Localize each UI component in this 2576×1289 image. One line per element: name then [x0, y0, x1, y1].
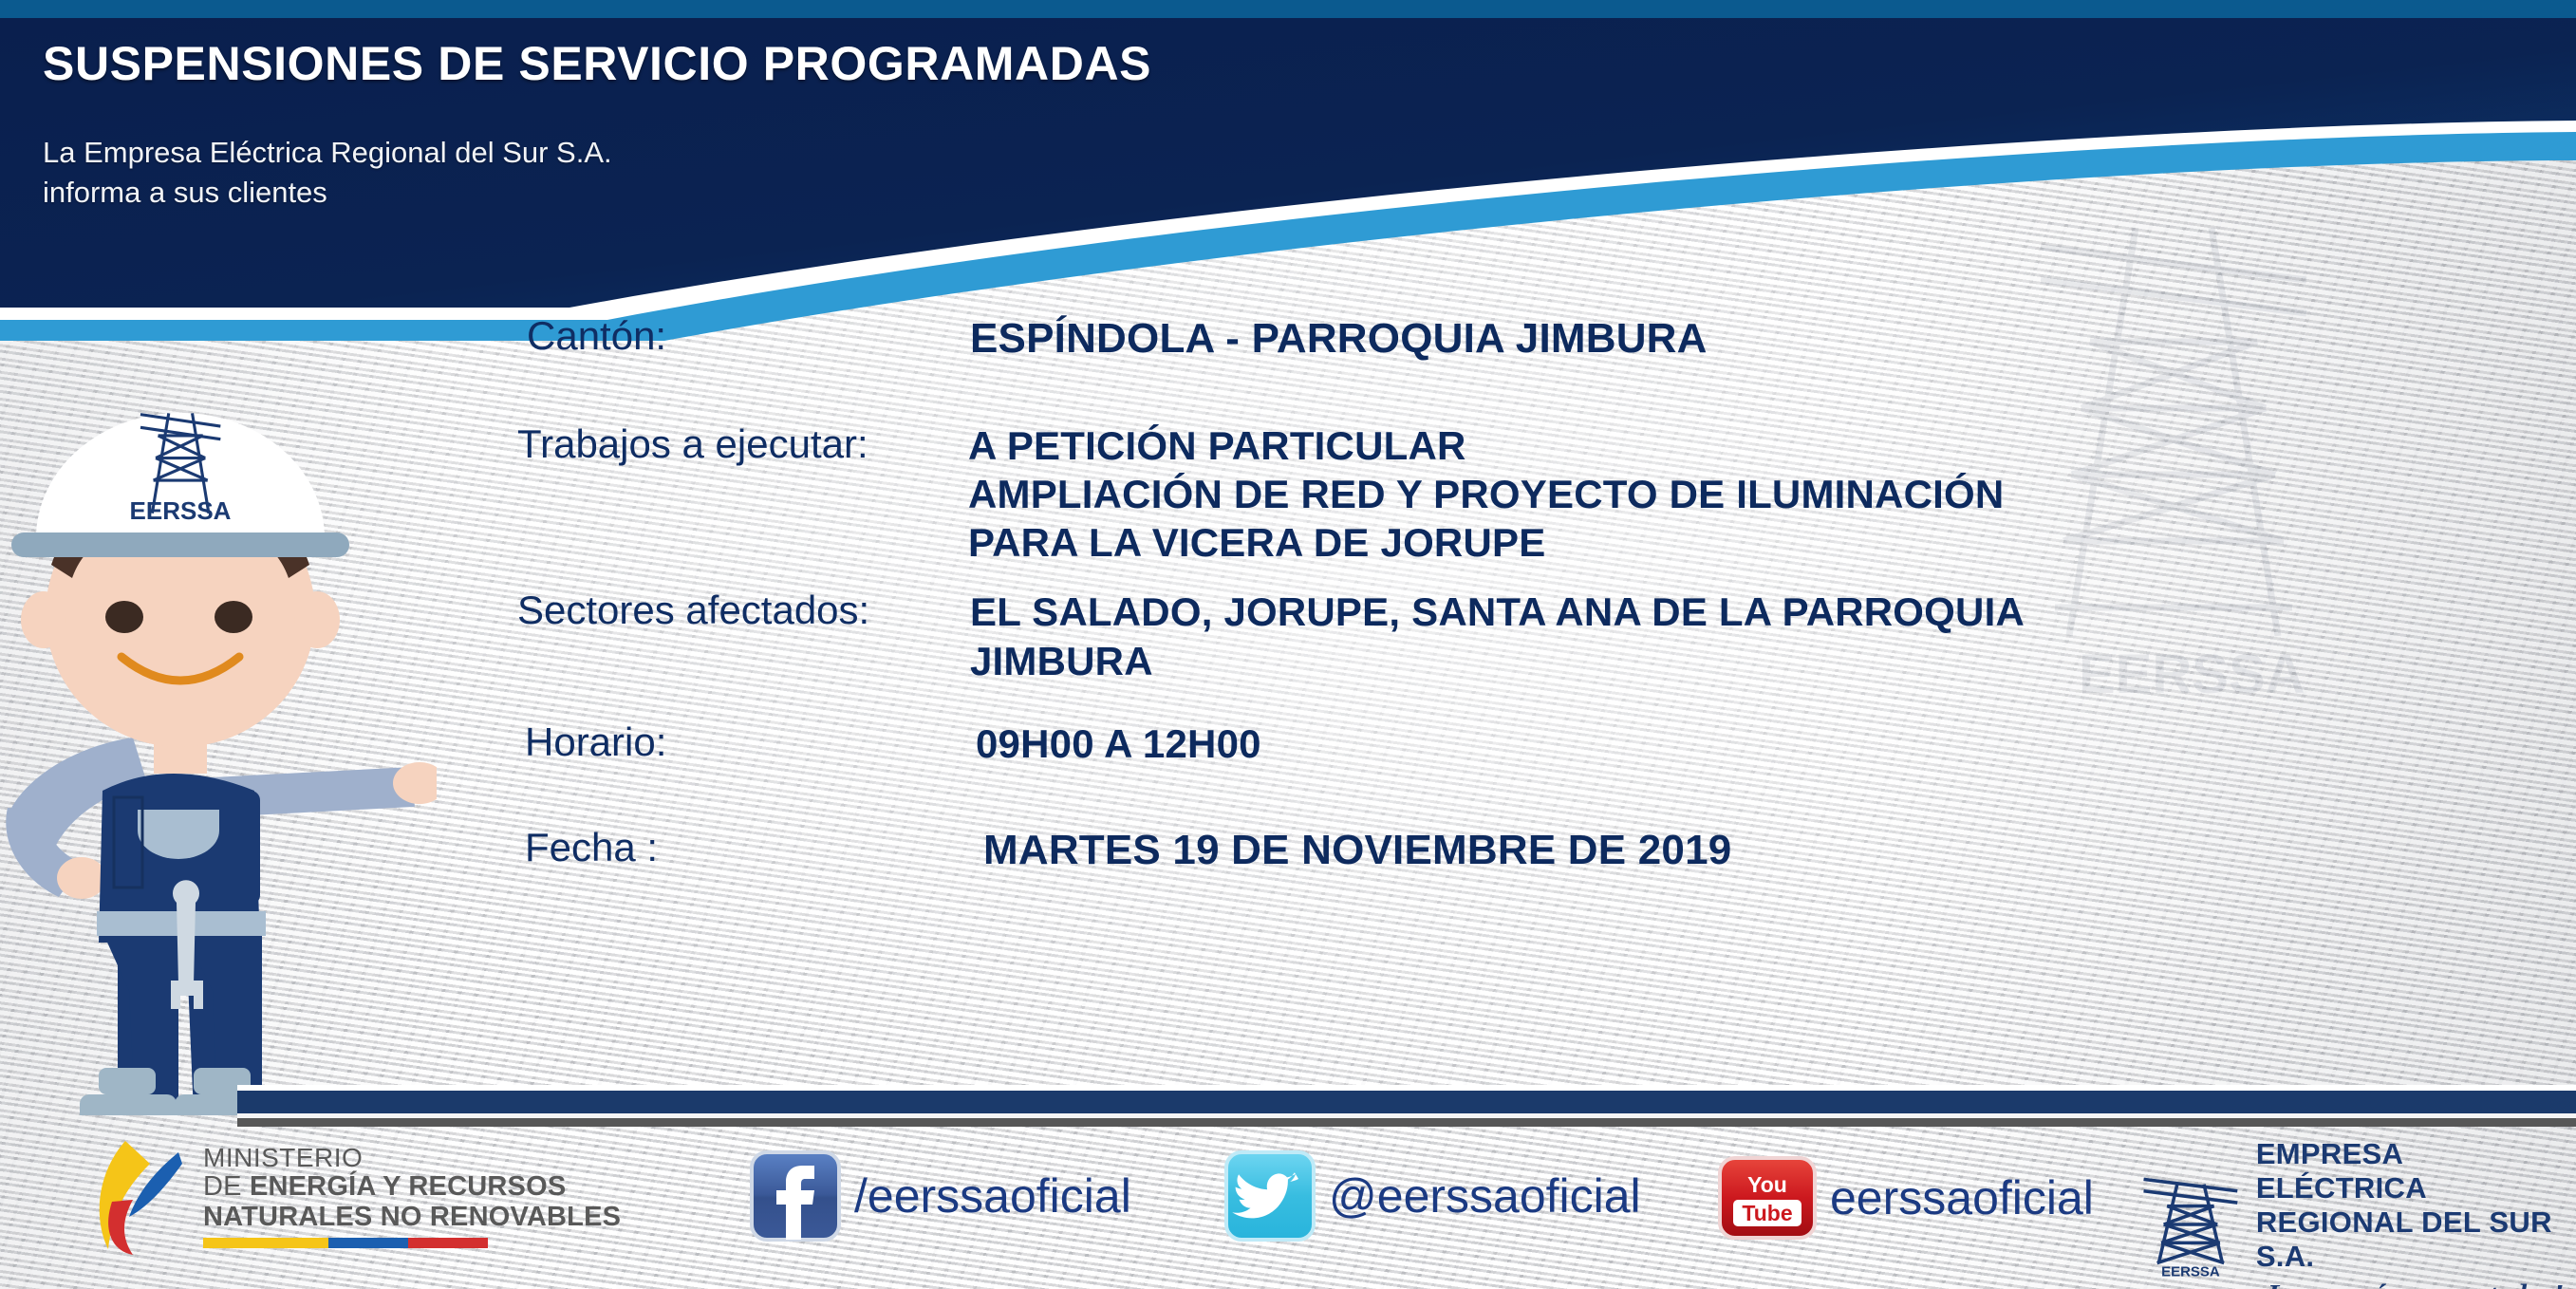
twitter-handle[interactable]: @eerssaoficial [1329, 1168, 1641, 1224]
worker-mascot-illustration: EERSSA [0, 365, 437, 1115]
social-twitter[interactable]: @eerssaoficial [1224, 1150, 1641, 1242]
canton-label: Cantón: [517, 313, 959, 358]
ministerio-line2: DE ENERGÍA Y RECURSOS [203, 1172, 621, 1202]
helmet-logo-text: EERSSA [130, 496, 232, 525]
canton-value: ESPÍNDOLA - PARROQUIA JIMBURA [970, 313, 1708, 364]
social-facebook[interactable]: /eerssaoficial [750, 1150, 1131, 1242]
field-row-sectores: Sectores afectados: EL SALADO, JORUPE, S… [517, 588, 2539, 684]
field-row-horario: Horario: 09H00 A 12H00 [517, 719, 2539, 768]
youtube-icon[interactable]: You Tube [1718, 1156, 1817, 1240]
transmission-tower-icon: EERSSA [2140, 1162, 2241, 1287]
ministerio-line3: NATURALES NO RENOVABLES [203, 1203, 621, 1232]
ecuador-swoosh-icon [84, 1135, 190, 1257]
trabajos-line-1: A PETICIÓN PARTICULAR [968, 421, 2004, 470]
trabajos-line-2: AMPLIACIÓN DE RED Y PROYECTO DE ILUMINAC… [968, 470, 2004, 518]
fecha-label: Fecha : [517, 825, 966, 869]
field-row-canton: Cantón: ESPÍNDOLA - PARROQUIA JIMBURA [517, 313, 2539, 364]
notice-details: Cantón: ESPÍNDOLA - PARROQUIA JIMBURA Tr… [517, 313, 2539, 876]
trabajos-line-3: PARA LA VICERA DE JORUPE [968, 518, 2004, 567]
youtube-handle[interactable]: eerssaoficial [1830, 1170, 2094, 1225]
horario-value: 09H00 A 12H00 [976, 719, 1261, 768]
ministerio-line2-bold: ENERGÍA Y RECURSOS [250, 1171, 566, 1202]
page-title: SUSPENSIONES DE SERVICIO PROGRAMADAS [43, 36, 1151, 91]
sectores-value: EL SALADO, JORUPE, SANTA ANA DE LA PARRO… [970, 588, 2025, 684]
horario-label: Horario: [517, 719, 966, 764]
trabajos-label: Trabajos a ejecutar: [517, 421, 959, 466]
sectores-line-1: EL SALADO, JORUPE, SANTA ANA DE LA PARRO… [970, 588, 2025, 636]
facebook-icon[interactable] [750, 1150, 841, 1242]
brand-line2: REGIONAL DEL SUR S.A. [2256, 1205, 2576, 1274]
twitter-icon[interactable] [1224, 1150, 1316, 1242]
header-subtitle-line1: La Empresa Eléctrica Regional del Sur S.… [43, 133, 612, 173]
youtube-badge-bottom: Tube [1742, 1201, 1792, 1225]
eerssa-brand-logo: EERSSA EMPRESA ELÉCTRICA REGIONAL DEL SU… [2140, 1137, 2576, 1289]
fecha-value: MARTES 19 DE NOVIEMBRE DE 2019 [983, 825, 1731, 876]
ministerio-flag-rule [203, 1238, 488, 1248]
sectores-line-2: JIMBURA [970, 637, 2025, 685]
ministerio-text: MINISTERIO DE ENERGÍA Y RECURSOS NATURAL… [203, 1144, 621, 1248]
brand-line1: EMPRESA ELÉCTRICA [2256, 1137, 2576, 1205]
header-subtitle-line2: informa a sus clientes [43, 173, 612, 213]
divider-navy-bar [237, 1091, 2576, 1113]
suspension-notice-poster: EERSSA SUSPENSIONES DE SERVICIO PROGRAMA… [0, 0, 2576, 1289]
trabajos-value: A PETICIÓN PARTICULAR AMPLIACIÓN DE RED … [968, 421, 2004, 568]
youtube-badge-top: You [1747, 1172, 1787, 1197]
social-youtube[interactable]: You Tube eerssaoficial [1718, 1156, 2094, 1240]
ministerio-line2-prefix: DE [203, 1171, 250, 1202]
divider-gray-shadow [237, 1118, 2576, 1127]
field-row-fecha: Fecha : MARTES 19 DE NOVIEMBRE DE 2019 [517, 825, 2539, 876]
tower-label: EERSSA [2161, 1264, 2220, 1280]
footer-divider [237, 1085, 2576, 1127]
ministerio-logo: MINISTERIO DE ENERGÍA Y RECURSOS NATURAL… [84, 1135, 621, 1257]
header-subtitle: La Empresa Eléctrica Regional del Sur S.… [43, 133, 612, 213]
brand-text: EMPRESA ELÉCTRICA REGIONAL DEL SUR S.A. … [2256, 1137, 2576, 1289]
top-accent-strip [0, 0, 2576, 18]
sectores-label: Sectores afectados: [517, 588, 959, 632]
field-row-trabajos: Trabajos a ejecutar: A PETICIÓN PARTICUL… [517, 421, 2539, 568]
ministerio-line1: MINISTERIO [203, 1144, 621, 1172]
facebook-handle[interactable]: /eerssaoficial [854, 1168, 1131, 1224]
brand-slogan: ¡La energía somos todos! [2256, 1278, 2576, 1289]
